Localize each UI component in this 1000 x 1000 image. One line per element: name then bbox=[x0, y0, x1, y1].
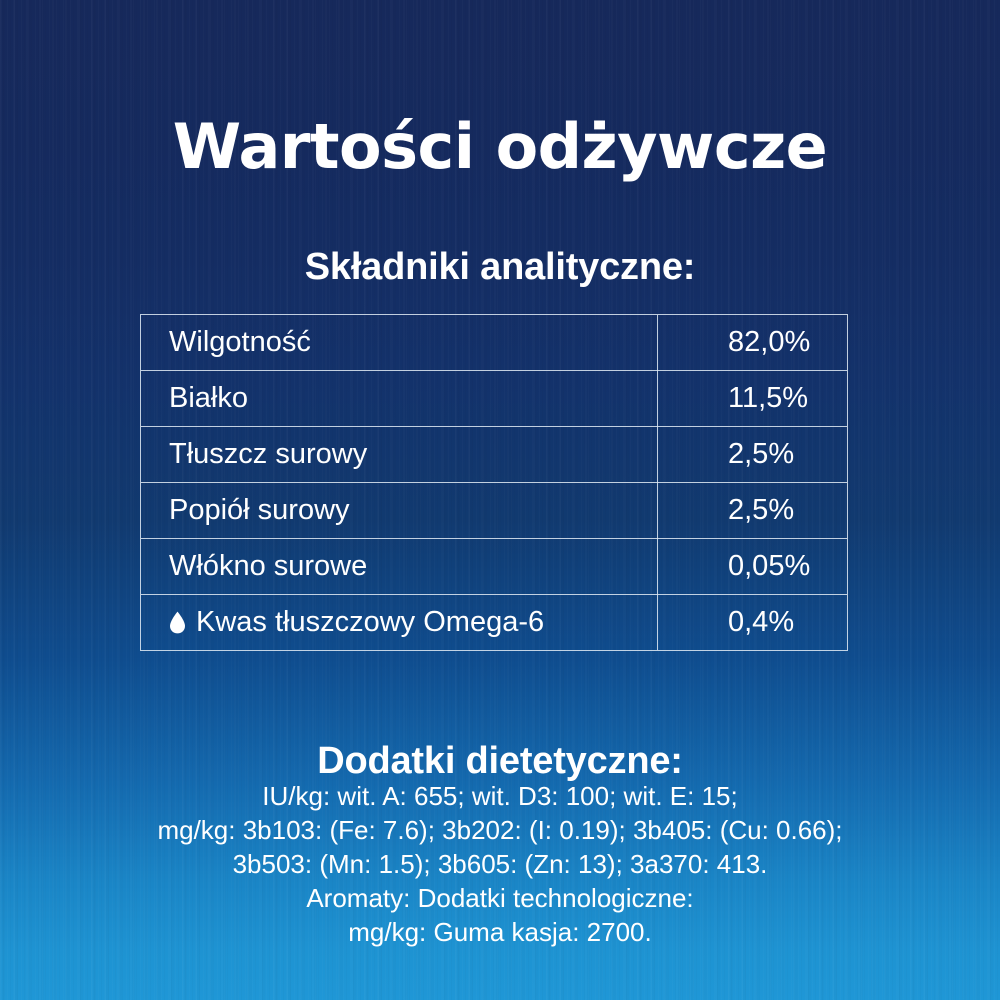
nutrient-label-cell: Białko bbox=[141, 371, 658, 427]
additives-line: IU/kg: wit. A: 655; wit. D3: 100; wit. E… bbox=[0, 779, 1000, 813]
nutrient-label: Tłuszcz surowy bbox=[169, 438, 367, 471]
nutrient-label: Kwas tłuszczowy Omega-6 bbox=[196, 606, 544, 639]
nutrient-label-cell: Wilgotność bbox=[141, 315, 658, 371]
table-row: Popiół surowy 2,5% bbox=[141, 483, 847, 539]
additives-line: 3b503: (Mn: 1.5); 3b605: (Zn: 13); 3a370… bbox=[0, 847, 1000, 881]
nutrient-label-cell: Tłuszcz surowy bbox=[141, 427, 658, 483]
nutrient-value: 2,5% bbox=[658, 427, 848, 483]
nutrient-value: 2,5% bbox=[658, 483, 848, 539]
page-title: Wartości odżywcze bbox=[0, 114, 1000, 179]
droplet-icon bbox=[169, 611, 186, 634]
nutrient-label: Włókno surowe bbox=[169, 550, 367, 583]
additives-section-heading: Dodatki dietetyczne: bbox=[0, 740, 1000, 783]
content-container: Wartości odżywcze Składniki analityczne:… bbox=[0, 0, 1000, 1000]
additives-line: mg/kg: 3b103: (Fe: 7.6); 3b202: (I: 0.19… bbox=[0, 813, 1000, 847]
nutrient-label-cell: Kwas tłuszczowy Omega-6 bbox=[141, 595, 658, 651]
nutrient-label: Wilgotność bbox=[169, 326, 311, 359]
table-row: Kwas tłuszczowy Omega-6 0,4% bbox=[141, 595, 847, 651]
nutrient-value: 11,5% bbox=[658, 371, 848, 427]
table-row: Włókno surowe 0,05% bbox=[141, 539, 847, 595]
nutrient-value: 0,4% bbox=[658, 595, 848, 651]
nutrient-label: Białko bbox=[169, 382, 248, 415]
nutrient-label-cell: Popiół surowy bbox=[141, 483, 658, 539]
additives-text-block: IU/kg: wit. A: 655; wit. D3: 100; wit. E… bbox=[0, 779, 1000, 949]
nutrition-panel: Wartości odżywcze Składniki analityczne:… bbox=[0, 0, 1000, 1000]
nutrient-value: 0,05% bbox=[658, 539, 848, 595]
table-row: Wilgotność 82,0% bbox=[141, 315, 847, 371]
nutrient-value: 82,0% bbox=[658, 315, 848, 371]
table-row: Białko 11,5% bbox=[141, 371, 847, 427]
additives-line: Aromaty: Dodatki technologiczne: bbox=[0, 881, 1000, 915]
nutrient-label: Popiół surowy bbox=[169, 494, 350, 527]
analytical-section-heading: Składniki analityczne: bbox=[0, 246, 1000, 289]
table-row: Tłuszcz surowy 2,5% bbox=[141, 427, 847, 483]
nutrition-table: Wilgotność 82,0% Białko 11,5% bbox=[140, 314, 848, 651]
nutrient-label-cell: Włókno surowe bbox=[141, 539, 658, 595]
nutrition-table-body: Wilgotność 82,0% Białko 11,5% bbox=[141, 315, 847, 650]
additives-line: mg/kg: Guma kasja: 2700. bbox=[0, 915, 1000, 949]
